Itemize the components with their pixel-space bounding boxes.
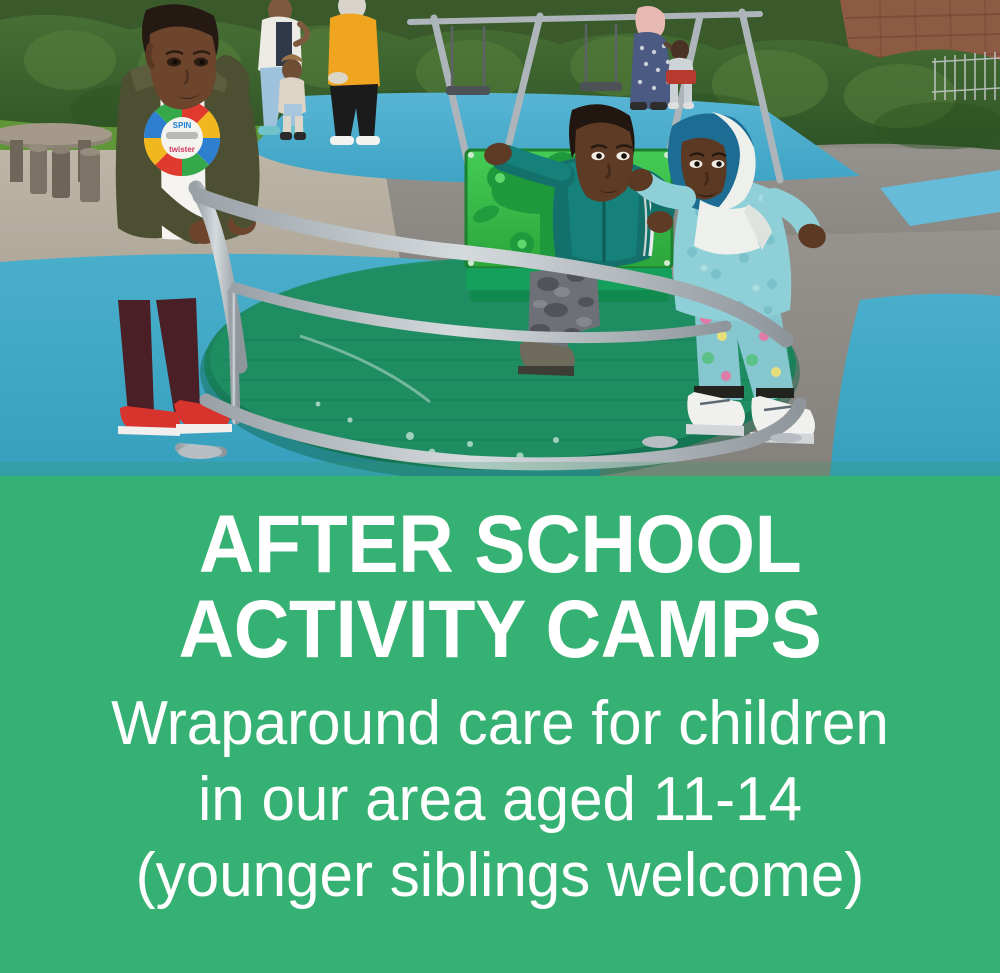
subtitle-line-2: in our area aged 11-14 bbox=[15, 762, 985, 838]
headline-line-1: AFTER SCHOOL bbox=[30, 502, 970, 587]
subtitle-line-1: Wraparound care for children bbox=[15, 686, 985, 762]
headline-line-2: ACTIVITY CAMPS bbox=[30, 587, 970, 672]
poster: SPIN twister bbox=[0, 0, 1000, 973]
green-text-panel: AFTER SCHOOL ACTIVITY CAMPS Wraparound c… bbox=[0, 476, 1000, 973]
photo-illustration: SPIN twister bbox=[0, 0, 1000, 476]
svg-text:twister: twister bbox=[169, 145, 195, 154]
svg-text:SPIN: SPIN bbox=[173, 121, 192, 130]
subtitle: Wraparound care for children in our area… bbox=[15, 672, 985, 914]
headline: AFTER SCHOOL ACTIVITY CAMPS bbox=[30, 476, 970, 672]
playground-photo: SPIN twister bbox=[0, 0, 1000, 476]
tshirt-graphic: SPIN twister bbox=[144, 100, 220, 176]
subtitle-line-3: (younger siblings welcome) bbox=[15, 838, 985, 914]
blue-surface-right bbox=[830, 294, 1000, 476]
